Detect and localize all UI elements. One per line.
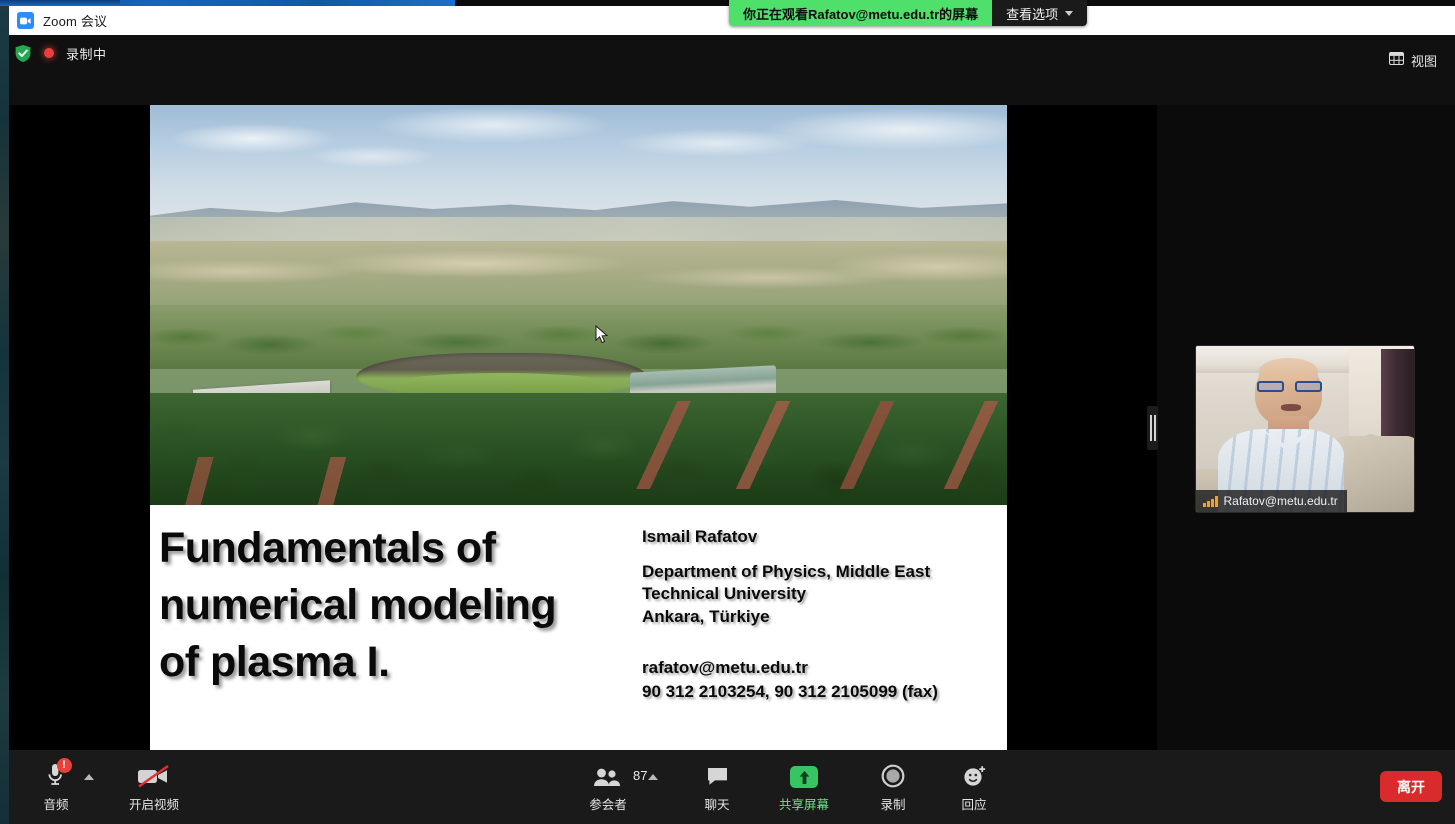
slide-title: Fundamentals of numerical modeling of pl… (159, 520, 579, 690)
slide-author-block: Ismail Rafatov Department of Physics, Mi… (642, 527, 992, 703)
view-options-label: 查看选项 (1006, 4, 1058, 23)
affiliation-line-2: Technical University (642, 583, 992, 605)
record-dot-icon (41, 45, 57, 61)
chat-bubble-icon (706, 762, 729, 788)
share-screen-label: 共享屏幕 (779, 794, 829, 813)
author-email: rafatov@metu.edu.tr (642, 656, 992, 679)
zoom-camera-icon (17, 12, 34, 29)
author-name: Ismail Rafatov (642, 527, 992, 547)
grid-view-icon (1389, 52, 1404, 70)
camera-off-icon (137, 762, 171, 788)
participants-icon: 87 (593, 762, 623, 788)
recording-status-group[interactable]: 录制中 (13, 43, 107, 63)
desktop-background-left (0, 6, 9, 824)
affiliation-line-1: Department of Physics, Middle East (642, 561, 992, 583)
campus-aerial-photo (150, 105, 1007, 505)
microphone-muted-icon: ! (48, 762, 65, 788)
green-shield-check-icon[interactable] (13, 43, 32, 63)
signal-bars-icon (1203, 496, 1218, 507)
participants-count: 87 (633, 768, 647, 783)
share-resize-handle[interactable] (1147, 406, 1158, 450)
meeting-controls-toolbar: ! 音频 开启视频 87 (9, 750, 1455, 824)
viewing-screen-text: 你正在观看Rafatov@metu.edu.tr的屏幕 (729, 0, 992, 26)
shared-screen-stage[interactable]: Fundamentals of numerical modeling of pl… (9, 105, 1157, 750)
audio-alert-badge: ! (57, 758, 72, 773)
participant-video-thumbnail[interactable]: Rafatov@metu.edu.tr (1196, 346, 1414, 512)
chat-label: 聊天 (704, 794, 729, 813)
affiliation-line-3: Ankara, Türkiye (642, 606, 992, 628)
audio-label: 音频 (43, 794, 68, 813)
screen-share-banner: 你正在观看Rafatov@metu.edu.tr的屏幕 查看选项 (729, 0, 1087, 26)
participant-name-label: Rafatov@metu.edu.tr (1196, 490, 1347, 512)
slide-text-area: Fundamentals of numerical modeling of pl… (150, 505, 1007, 750)
participants-label: 参会者 (589, 794, 627, 813)
share-screen-up-arrow-icon (790, 762, 818, 788)
record-circle-icon (881, 762, 905, 788)
chat-button[interactable]: 聊天 (690, 756, 744, 818)
video-button[interactable]: 开启视频 (121, 756, 187, 818)
mouse-pointer-icon (595, 325, 608, 349)
participants-button[interactable]: 87 参会者 (581, 756, 635, 818)
video-label: 开启视频 (129, 794, 179, 813)
presentation-slide: Fundamentals of numerical modeling of pl… (150, 105, 1007, 750)
participants-options-caret-icon[interactable] (648, 774, 658, 780)
reactions-button[interactable]: 回应 (947, 756, 1001, 818)
share-screen-button[interactable]: 共享屏幕 (771, 756, 837, 818)
leave-meeting-button[interactable]: 离开 (1380, 771, 1442, 802)
meeting-top-bar: 录制中 视图 (9, 35, 1455, 105)
reactions-label: 回应 (961, 794, 986, 813)
view-button[interactable]: 视图 (1381, 47, 1445, 74)
audio-button[interactable]: ! 音频 (29, 756, 83, 818)
window-title: Zoom 会议 (43, 11, 107, 30)
view-options-button[interactable]: 查看选项 (992, 0, 1087, 26)
smiley-plus-icon (962, 762, 987, 788)
record-label: 录制 (880, 794, 905, 813)
participant-name: Rafatov@metu.edu.tr (1224, 494, 1338, 508)
author-phone: 90 312 2103254, 90 312 2105099 (fax) (642, 680, 992, 703)
recording-label: 录制中 (66, 44, 107, 63)
chevron-down-icon (1065, 11, 1073, 16)
audio-options-caret-icon[interactable] (84, 774, 94, 780)
record-button[interactable]: 录制 (866, 756, 920, 818)
view-label: 视图 (1411, 51, 1437, 70)
zoom-meeting-window: Zoom 会议 你正在观看Rafatov@metu.edu.tr的屏幕 查看选项… (0, 0, 1455, 824)
